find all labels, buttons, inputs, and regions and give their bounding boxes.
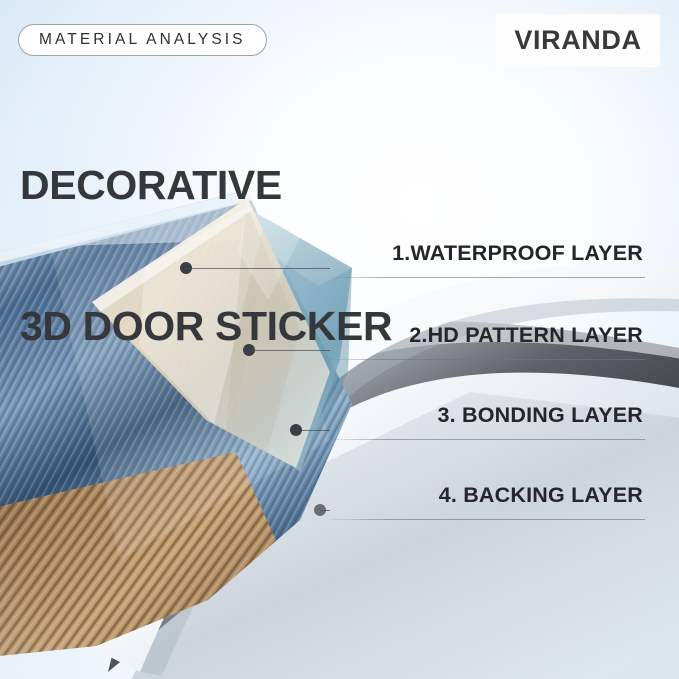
brand-logo: VIRANDA <box>496 14 660 67</box>
callout-leader-1 <box>186 268 330 269</box>
brand-logo-text: VIRANDA <box>514 25 641 56</box>
callout-label-2: 2.HD PATTERN LAYER <box>409 323 643 348</box>
callout-label-4: 4. BACKING LAYER <box>439 483 643 508</box>
callout-rule-1 <box>330 277 645 278</box>
callout-rule-2 <box>330 359 645 360</box>
poster-canvas: MATERIAL ANALYSIS DECORATIVE 3D DOOR STI… <box>0 0 679 679</box>
title-line-1: DECORATIVE <box>20 162 392 209</box>
title-line-2: 3D DOOR STICKER <box>20 303 392 350</box>
callout-rule-4 <box>330 519 645 520</box>
callout-leader-3 <box>296 430 330 431</box>
callout-label-1: 1.WATERPROOF LAYER <box>392 241 643 266</box>
callout-leader-4 <box>320 510 330 511</box>
callout-rule-3 <box>330 439 645 440</box>
page-title: DECORATIVE 3D DOOR STICKER <box>20 68 392 444</box>
material-analysis-badge: MATERIAL ANALYSIS <box>18 24 267 56</box>
callout-label-3: 3. BONDING LAYER <box>438 403 644 428</box>
callout-leader-2 <box>249 350 330 351</box>
